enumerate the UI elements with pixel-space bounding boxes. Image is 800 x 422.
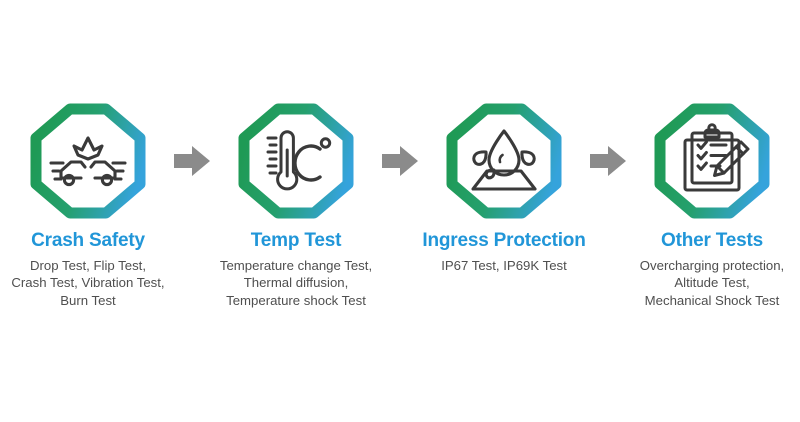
water-drop-surface-icon — [473, 131, 535, 189]
step-desc-line: Thermal diffusion, — [220, 274, 372, 292]
step-desc-line: Mechanical Shock Test — [640, 292, 784, 310]
step-desc-line: Drop Test, Flip Test, — [11, 257, 164, 275]
step-title-other-tests: Other Tests — [661, 230, 763, 252]
arrow-right-icon — [590, 146, 626, 176]
step-desc-line: Temperature change Test, — [220, 257, 372, 275]
octagon-outline — [36, 109, 140, 213]
step-desc-line: Crash Test, Vibration Test, — [11, 274, 164, 292]
badge-temp-test — [237, 102, 355, 220]
process-step-crash-safety[interactable]: Crash Safety Drop Test, Flip Test, Crash… — [0, 102, 178, 309]
step-desc-other-tests: Overcharging protection, Altitude Test, … — [640, 257, 784, 310]
process-step-other-tests[interactable]: Other Tests Overcharging protection, Alt… — [622, 102, 800, 309]
test-process-infographic: Crash Safety Drop Test, Flip Test, Crash… — [0, 0, 800, 422]
process-flow: Crash Safety Drop Test, Flip Test, Crash… — [0, 0, 800, 422]
step-desc-ingress-protection: IP67 Test, IP69K Test — [441, 257, 567, 275]
process-step-temp-test[interactable]: Temp Test Temperature change Test, Therm… — [206, 102, 386, 309]
thermometer-celsius-icon — [268, 132, 330, 189]
step-desc-line: Burn Test — [11, 292, 164, 310]
process-step-ingress-protection[interactable]: Ingress Protection IP67 Test, IP69K Test — [414, 102, 594, 274]
arrow-right-icon — [174, 146, 210, 176]
badge-other-tests — [653, 102, 771, 220]
step-title-crash-safety: Crash Safety — [31, 230, 145, 252]
badge-ingress-protection — [445, 102, 563, 220]
step-desc-line: Overcharging protection, — [640, 257, 784, 275]
step-desc-crash-safety: Drop Test, Flip Test, Crash Test, Vibrat… — [11, 257, 164, 310]
clipboard-checklist-pencil-icon — [685, 125, 748, 190]
step-desc-line: Temperature shock Test — [220, 292, 372, 310]
car-crash-icon — [51, 138, 125, 185]
octagon-outline — [452, 109, 556, 213]
step-desc-line: Altitude Test, — [640, 274, 784, 292]
step-desc-temp-test: Temperature change Test, Thermal diffusi… — [220, 257, 372, 310]
step-desc-line: IP67 Test, IP69K Test — [441, 257, 567, 275]
step-title-ingress-protection: Ingress Protection — [422, 230, 585, 252]
badge-crash-safety — [29, 102, 147, 220]
arrow-right-icon — [382, 146, 418, 176]
step-title-temp-test: Temp Test — [251, 230, 341, 252]
